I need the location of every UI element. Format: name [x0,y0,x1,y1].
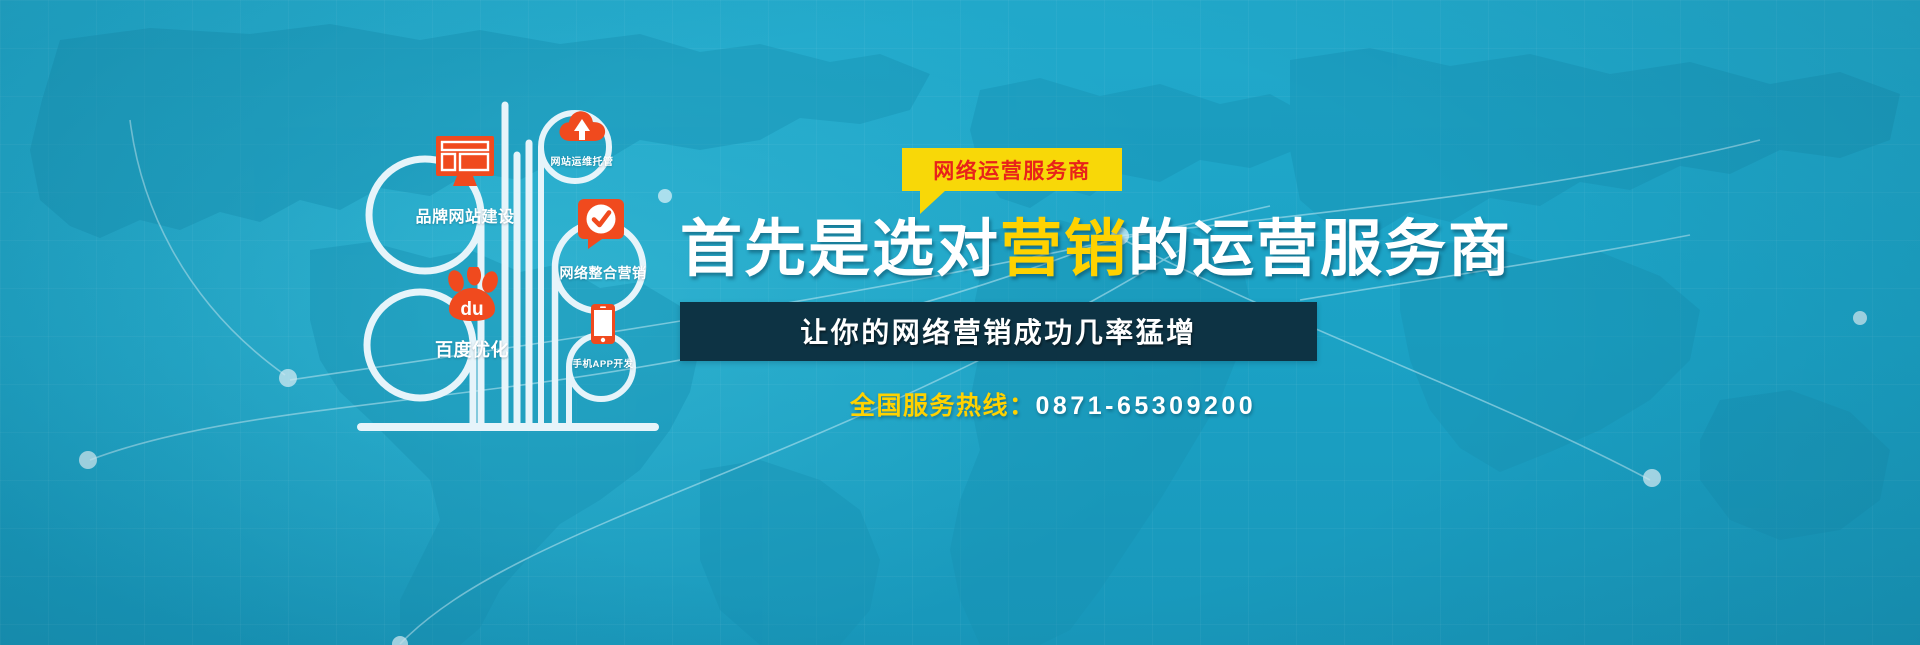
headline-highlight: 营销 [1000,215,1128,284]
promo-banner: 品牌网站建设 du 百度优化 [0,0,1920,645]
hotline: 全国服务热线：0871-65309200 [850,386,1680,422]
hotline-number[interactable]: 0871-65309200 [1036,392,1257,420]
tree-node-integrated-marketing[interactable]: 网络整合营销 [533,198,673,283]
subtitle-bar-text: 让你的网络营销成功几率猛增 [800,311,1197,351]
check-bubble-icon [533,198,673,255]
service-tree-graphic: 品牌网站建设 du 百度优化 [355,95,695,440]
tree-node-app-development-label: 手机APP开发 [551,356,655,370]
baidu-logo-text: du [460,299,483,320]
subtitle-bar: 让你的网络营销成功几率猛增 [680,302,1317,361]
badge-tail-pointer [920,190,946,214]
headline: 首先是选对营销的运营服务商 [680,217,1680,284]
tree-node-baidu-label: 百度优化 [379,336,565,362]
banner-content: 网络运营服务商 首先是选对营销的运营服务商 让你的网络营销成功几率猛增 全国服务… [680,148,1680,422]
headline-part1: 首先是选对 [680,215,1000,284]
hotline-label: 全国服务热线： [850,392,1036,420]
tree-node-app-development[interactable]: 手机APP开发 [551,303,655,370]
tagline-badge-wrap: 网络运营服务商 [902,148,1122,193]
smartphone-icon [551,303,655,350]
tree-node-integrated-marketing-label: 网络整合营销 [533,263,673,283]
headline-part2: 的运营服务商 [1128,215,1512,284]
tree-node-hosting-label: 网站运维托管 [522,153,642,168]
tagline-badge: 网络运营服务商 [902,148,1122,191]
tagline-badge-text: 网络运营服务商 [933,155,1091,185]
cloud-upload-icon [522,109,642,148]
tree-node-hosting[interactable]: 网站运维托管 [522,109,642,168]
tree-node-website-label: 品牌网站建设 [372,203,558,227]
